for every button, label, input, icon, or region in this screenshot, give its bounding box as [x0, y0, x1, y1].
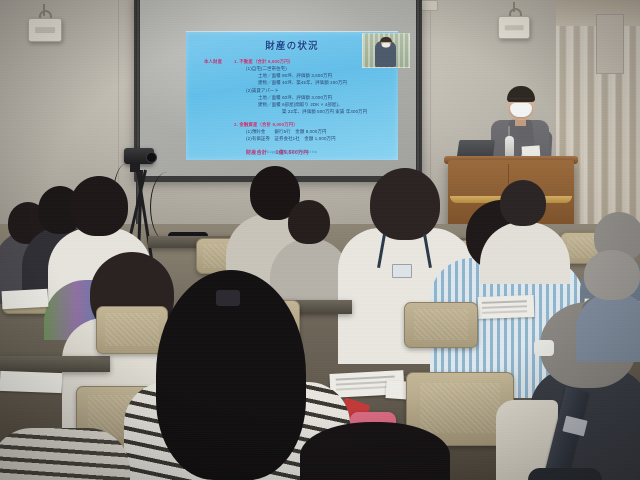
slide-line-2: 土地／面積 80坪、評価額 3,600万円: [204, 72, 390, 79]
screen-pole-right: [416, 0, 420, 186]
slide-body: 本人財産 1. 不動産（合計 6,500万円） (1)自宅(二世帯住宅) 土地／…: [204, 58, 390, 156]
speaker-grille-icon-2: [505, 25, 524, 30]
wall-speaker-right: [498, 16, 530, 39]
a10b-head: [584, 250, 640, 300]
microphone: [505, 136, 514, 158]
desk-mid-left: [0, 356, 110, 372]
slide-line-text-0: 1. 不動産（合計 6,500万円）: [234, 58, 293, 65]
slide-footer-copyright: Copyright2022 Hiroyuki Ito: [186, 150, 398, 154]
a3-head: [70, 176, 128, 236]
pip-hair: [380, 37, 392, 42]
slide-line-5: 土地／面積 60坪、評価額 3,000万円: [204, 94, 390, 101]
wall-seam-right: [430, 0, 431, 200]
a14-striped-shirt: [0, 428, 130, 480]
slide-line-6: 建物／面積 6部屋(間取り 2DK × 4部屋)、: [204, 101, 390, 108]
a7-id-badge: [392, 264, 412, 278]
slide-line-9: (1)預貯金 銀行5行 金額 8,000万円: [204, 128, 390, 135]
slide-lead-label: 本人財産: [204, 58, 234, 65]
speaker-video-inset: [362, 33, 410, 68]
slide-line-8: 2. 金融資産（合計 9,000万円）: [204, 121, 390, 128]
slide-line-3: 建物／面積 40坪、築45年、評価額 200万円: [204, 79, 390, 86]
presenter-face-mask: [510, 103, 532, 117]
wall-panel: [596, 14, 624, 74]
speaker-grille-icon: [35, 27, 55, 33]
chair-mid-1: [96, 306, 168, 354]
papers-on-desk-3: [2, 289, 49, 309]
slide-line-4: (2)賃貸アパート: [204, 87, 390, 94]
a12-bag: [528, 468, 602, 480]
a9-head: [500, 180, 546, 226]
a11-hair-clip: [216, 290, 240, 306]
a13-head: [300, 422, 450, 480]
papers-on-desk-1: [478, 295, 535, 319]
a6b-head: [288, 200, 330, 244]
slide-line-10: (2)有価証券 証券会社1社 金額 1,000万円: [204, 135, 390, 142]
a7-head: [370, 168, 440, 240]
pip-face-mask: [382, 43, 390, 47]
wall-speaker-left: [28, 18, 62, 42]
slide-line-7: 築 22年、評価額 500万円 家賃 年400万円: [204, 108, 390, 115]
camera-lens-icon: [146, 152, 157, 163]
papers-on-desk-4: [0, 371, 62, 393]
lecture-room-photo: 財産の状況 本人財産 1. 不動産（合計 6,500万円） (1)自宅(二世帯住…: [0, 0, 640, 480]
a12-face-mask: [534, 340, 554, 356]
chair-mid-3: [404, 302, 478, 348]
